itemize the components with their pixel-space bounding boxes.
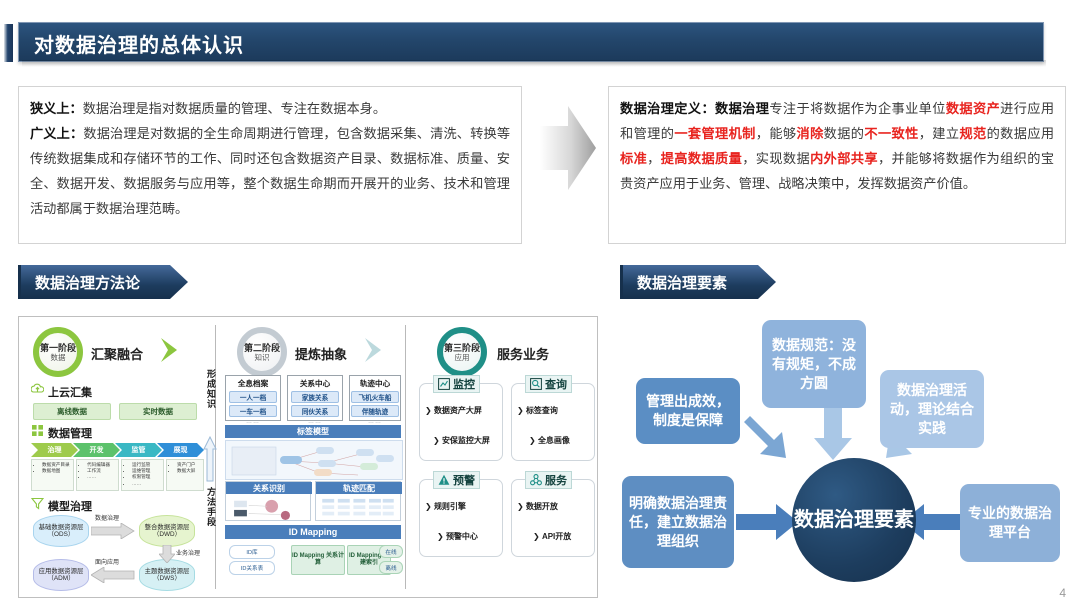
bar-label-id-mapping: ID Mapping — [225, 525, 401, 539]
banner-elements-label: 数据治理要素 — [623, 272, 753, 293]
layer-dws-code: （DWS） — [153, 575, 181, 582]
pill-offline-data: 离线数据 — [33, 403, 111, 420]
methodology-diagram: 形成知识 方法手段 第一阶段 数据 汇聚融合 上云汇集 离线数据 实时数据 数据… — [18, 316, 598, 598]
service-item-warning-center: ❯ 预警中心 — [437, 531, 478, 542]
arrow-label-business-governance: 业务治理 — [176, 548, 200, 557]
formal-segment-12: 标准 — [620, 151, 647, 166]
banner-methodology-label: 数据治理方法论 — [21, 272, 166, 293]
formal-segment-16: 内外部共享 — [810, 151, 878, 166]
stage-1-section-model: 模型治理 — [48, 498, 92, 514]
formal-segment-4: 一套管理机制 — [674, 126, 755, 141]
layer-dwd: 整合数据资源层 （DWD） — [139, 515, 195, 547]
column-divider-2 — [405, 325, 406, 589]
formal-segment-0: 数据治理 — [715, 101, 769, 116]
layer-adm-name: 应用数据资源层 — [39, 568, 84, 575]
service-item-api-open: ❯ API开放 — [533, 531, 571, 542]
stage-3-ring: 第三阶段 应用 — [437, 327, 487, 377]
arrow-down-business — [159, 545, 175, 563]
elements-diagram: 管理出成效，制度是保障 数据规范：没有规矩，不成方圆 数据治理活动，理论结合实践… — [612, 316, 1070, 598]
broad-body: 数据治理是对数据的全生命周期进行管理，包含数据采集、清洗、转换等传统数据集成和存… — [30, 126, 510, 216]
subcard-trajectory-head: 轨迹匹配 — [316, 482, 402, 494]
definition-formal-text: 数据治理定义：数据治理专注于将数据作为企事业单位数据资产进行应用和管理的一套管理… — [620, 96, 1054, 196]
stage-2-ring: 第二阶段 知识 — [237, 327, 287, 377]
chip-person-archive: 一人一档 — [229, 391, 277, 403]
grid-squares-icon — [31, 424, 44, 437]
stage-3-ring-top: 第三阶段 — [444, 343, 480, 353]
chev-tag-governance: 治理 — [31, 443, 78, 457]
bubble-responsibility: 明确数据治理责任，建立数据治理组织 — [622, 476, 734, 568]
chev-tag-development: 开发 — [73, 443, 120, 457]
search-icon — [530, 378, 542, 390]
service-item-security-screen: ❯ 安保监控大屏 — [433, 435, 490, 446]
formal-segment-5: ，能够 — [756, 126, 797, 141]
service-head-service-label: 服务 — [545, 472, 567, 488]
chip-id-library: ID库 — [229, 545, 275, 559]
service-item-data-open: ❯ 数据开放 — [517, 501, 558, 512]
broad-label: 广义上： — [30, 126, 83, 141]
layer-dwd-code: （DWD） — [153, 531, 181, 538]
cloud-upload-icon — [31, 383, 44, 396]
layer-ods: 基础数据资源层 （ODS） — [33, 515, 89, 547]
formal-segment-14: 提高数据质量 — [661, 151, 742, 166]
title-shadow — [22, 60, 1046, 67]
chevron-right-icon-2 — [363, 337, 385, 363]
service-item-rule-engine: ❯ 规则引擎 — [425, 501, 466, 512]
stage-2-ring-bottom: 知识 — [255, 353, 270, 362]
definition-panel-formal: 数据治理定义：数据治理专注于将数据作为企事业单位数据资产进行应用和管理的一套管理… — [608, 86, 1066, 244]
stage-2-title: 提炼抽象 — [295, 344, 347, 363]
service-head-monitor: 监控 — [433, 375, 480, 393]
service-head-warning: 预警 — [433, 471, 480, 489]
layer-dwd-name: 整合数据资源层 — [145, 524, 190, 531]
bubble-specification: 数据规范：没有规矩，不成方圆 — [762, 320, 866, 408]
chevron-right-icon-1 — [159, 337, 181, 363]
stage-1-title: 汇聚融合 — [91, 344, 143, 363]
chev-box-supervision: 运行监管运维管理权限管理…… — [121, 459, 164, 491]
chip-vehicle-archive: 一车一档 — [229, 405, 277, 417]
slide-canvas: 对数据治理的总体认识 狭义上：数据治理是指对数据质量的管理、专注在数据本身。 广… — [0, 0, 1080, 608]
chev-box-display: 资产门户数据大屏 — [166, 459, 204, 491]
formal-segment-2: 数据资产 — [946, 101, 1000, 116]
service-card-service — [511, 479, 595, 557]
stage-2-ring-top: 第二阶段 — [244, 343, 280, 353]
layer-adm: 应用数据资源层 （ADM） — [33, 559, 89, 591]
service-head-query: 查询 — [525, 375, 572, 393]
chev-item-1-2: …… — [87, 474, 115, 480]
definition-narrow-text: 狭义上：数据治理是指对数据质量的管理、专注在数据本身。 广义上：数据治理是对数据… — [30, 96, 510, 221]
page-title: 对数据治理的总体认识 — [34, 29, 244, 58]
service-item-asset-screen: ❯ 数据资产大屏 — [425, 405, 482, 416]
relation-recognition-visual — [227, 498, 309, 520]
service-head-monitor-label: 监控 — [453, 376, 475, 392]
chev-tag-display: 展现 — [157, 443, 204, 457]
definition-panel-narrow: 狭义上：数据治理是指对数据质量的管理、专注在数据本身。 广义上：数据治理是对数据… — [18, 86, 522, 244]
narrow-label: 狭义上： — [30, 101, 83, 116]
formal-segment-9: ，建立 — [919, 126, 960, 141]
service-item-tag-query: ❯ 标签查询 — [517, 405, 558, 416]
chip-offline: 离线 — [379, 561, 403, 574]
formal-segment-6: 消除 — [797, 126, 824, 141]
trajectory-match-visual — [317, 498, 399, 520]
stage-1-ring: 第一阶段 数据 — [33, 327, 83, 377]
formal-label: 数据治理定义： — [620, 101, 715, 116]
formal-segment-15: ，实现数据 — [742, 151, 810, 166]
stage-3-title: 服务业务 — [497, 344, 549, 363]
card-trajectory-center-head: 轨迹中心 — [360, 378, 390, 391]
chev-item-3-1: 数据大屏 — [177, 468, 200, 474]
chip-transport: 飞机火车船 — [351, 391, 399, 403]
service-card-monitor — [419, 383, 503, 461]
stage-1-section-manage: 数据管理 — [48, 425, 92, 441]
transition-arrow — [536, 104, 598, 192]
chev-item-2-3: …… — [132, 481, 160, 487]
chev-tag-supervision: 监管 — [115, 443, 162, 457]
formal-segment-1: 专注于将数据作为企事业单位 — [769, 101, 945, 116]
pill-realtime-data: 实时数据 — [119, 403, 197, 420]
card-holographic-archive-head: 全息档案 — [238, 378, 268, 391]
card-trajectory-match: 轨迹匹配 — [315, 481, 401, 521]
banner-methodology: 数据治理方法论 — [18, 265, 188, 299]
card-relation-center: 关系中心 家族关系 同伙关系 …… — [287, 375, 343, 421]
narrow-body: 数据治理是指对数据质量的管理、专注在数据本身。 — [83, 101, 386, 116]
formal-segment-13: ， — [647, 151, 661, 166]
model-funnel-icon — [31, 497, 44, 510]
layer-adm-code: （ADM） — [48, 575, 75, 582]
bar-label-model: 标签模型 — [225, 425, 401, 438]
stage-1-ring-bottom: 数据 — [51, 353, 66, 362]
upward-arrow-icon — [203, 435, 217, 483]
service-head-query-label: 查询 — [545, 376, 567, 392]
chip-family-relation: 家族关系 — [291, 391, 339, 403]
chev-item-0-1: 数据地图 — [42, 468, 70, 474]
bubble-platform: 专业的数据治理平台 — [960, 484, 1060, 562]
core-circle: 数据治理要素 — [792, 458, 916, 582]
service-item-holographic-portrait: ❯ 全息画像 — [529, 435, 570, 446]
title-accent-bar — [4, 24, 13, 62]
chip-online: 在线 — [379, 545, 403, 558]
card-relation-recognition: 关系识别 — [225, 481, 311, 521]
card-relation-center-head: 关系中心 — [300, 378, 330, 391]
chip-companion-track: 伴随轨迹 — [351, 405, 399, 417]
core-label: 数据治理要素 — [794, 507, 914, 533]
vertical-label-method: 方法手段 — [205, 487, 218, 527]
arrow-label-data-governance: 数据治理 — [95, 513, 119, 522]
chev-box-governance: 数据资产目录数据地图 — [31, 459, 74, 491]
chev-box-development: 代码编辑器工作流…… — [76, 459, 119, 491]
arrow-left-application — [91, 567, 135, 583]
card-holographic-archive: 全息档案 一人一档 一车一档 …… — [225, 375, 281, 421]
chip-id-relation-table: ID关系表 — [229, 561, 275, 575]
page-number: 4 — [1059, 586, 1066, 600]
subcard-relation-head: 关系识别 — [226, 482, 312, 494]
service-card-warning — [419, 479, 503, 557]
banner-elements: 数据治理要素 — [620, 265, 776, 299]
service-icon — [530, 474, 542, 486]
service-head-service: 服务 — [525, 471, 572, 489]
chip-gang-relation: 同伙关系 — [291, 405, 339, 417]
arrow-label-application-oriented: 面向应用 — [95, 557, 119, 566]
service-head-warning-label: 预警 — [453, 472, 475, 488]
formal-segment-11: 的数据应用 — [987, 126, 1055, 141]
bubble-activity: 数据治理活动，理论结合实践 — [880, 370, 984, 448]
bubble-management: 管理出成效，制度是保障 — [636, 378, 740, 444]
stage-3-ring-bottom: 应用 — [455, 353, 470, 362]
graph-visual-placeholder — [225, 440, 403, 480]
formal-segment-7: 数据的 — [824, 126, 865, 141]
layer-ods-code: （ODS） — [48, 531, 75, 538]
arrow-right-governance — [91, 523, 135, 539]
layer-ods-name: 基础数据资源层 — [39, 524, 84, 531]
block-id-mapping-relation: ID Mapping 关系计算 — [291, 545, 345, 575]
stage-1-ring-top: 第一阶段 — [40, 343, 76, 353]
card-trajectory-center: 轨迹中心 飞机火车船 伴随轨迹 …… — [349, 375, 401, 421]
layer-dws-name: 主题数据资源层 — [145, 568, 190, 575]
layer-dws: 主题数据资源层 （DWS） — [139, 559, 195, 591]
formal-segment-8: 不一致性 — [864, 126, 918, 141]
warning-icon — [438, 474, 450, 486]
monitor-icon — [438, 378, 450, 390]
stage-1-section-upload: 上云汇集 — [48, 384, 92, 400]
service-card-query — [511, 383, 595, 461]
formal-segment-10: 规范 — [959, 126, 986, 141]
vertical-label-knowledge: 形成知识 — [205, 369, 218, 409]
